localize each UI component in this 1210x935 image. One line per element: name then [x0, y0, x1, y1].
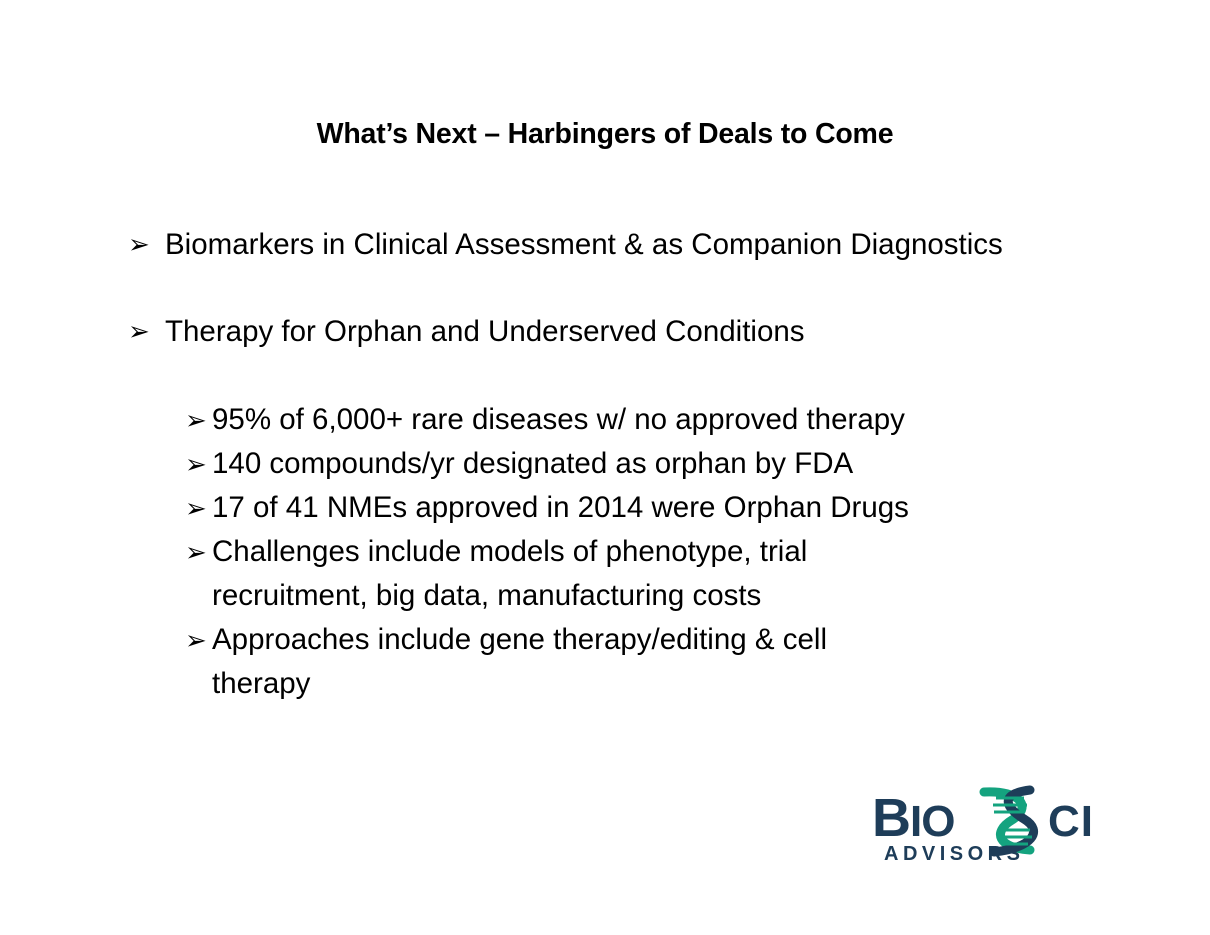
slide: What’s Next – Harbingers of Deals to Com… — [0, 0, 1210, 935]
bullet-level2-list: ➢ 95% of 6,000+ rare diseases w/ no appr… — [0, 398, 1210, 706]
spacer — [0, 267, 1210, 309]
bullet-level2-label: Approaches include gene therapy/editing … — [185, 618, 1170, 662]
bullet-arrow-icon: ➢ — [185, 618, 207, 662]
svg-text:BIO: BIO — [872, 788, 954, 848]
bullet-arrow-icon: ➢ — [185, 442, 207, 486]
bullet-arrow-icon: ➢ — [185, 398, 207, 442]
bullet-level2: ➢ 17 of 41 NMEs approved in 2014 were Or… — [0, 486, 1210, 530]
bullet-arrow-icon: ➢ — [128, 222, 150, 267]
slide-body: ➢ Biomarkers in Clinical Assessment & as… — [0, 222, 1210, 706]
bullet-level1-label: Biomarkers in Clinical Assessment & as C… — [128, 222, 1170, 267]
svg-text:CI: CI — [1048, 797, 1094, 846]
bullet-level2-label: Challenges include models of phenotype, … — [185, 530, 1170, 574]
bullet-level2-label: 17 of 41 NMEs approved in 2014 were Orph… — [185, 486, 1170, 530]
bullet-arrow-icon: ➢ — [185, 530, 207, 574]
bullet-level2: ➢ Approaches include gene therapy/editin… — [0, 618, 1210, 706]
bullet-level2-label-continued: therapy — [185, 662, 1170, 706]
page-title: What’s Next – Harbingers of Deals to Com… — [0, 118, 1210, 151]
bullet-level1-label: Therapy for Orphan and Underserved Condi… — [128, 309, 1170, 354]
bullet-level1: ➢ Therapy for Orphan and Underserved Con… — [0, 309, 1210, 354]
bullet-level2-label: 95% of 6,000+ rare diseases w/ no approv… — [185, 398, 1170, 442]
bullet-level2: ➢ Challenges include models of phenotype… — [0, 530, 1210, 618]
bullet-level2-label: 140 compounds/yr designated as orphan by… — [185, 442, 1170, 486]
svg-text:ADVISORS: ADVISORS — [884, 843, 1024, 864]
bullet-arrow-icon: ➢ — [185, 486, 207, 530]
bullet-level1: ➢ Biomarkers in Clinical Assessment & as… — [0, 222, 1210, 267]
biosci-advisors-logo: BIO CI — [872, 782, 1134, 864]
bullet-level2: ➢ 140 compounds/yr designated as orphan … — [0, 442, 1210, 486]
bullet-level2-label-continued: recruitment, big data, manufacturing cos… — [185, 574, 1170, 618]
bullet-arrow-icon: ➢ — [128, 309, 150, 354]
bullet-level2: ➢ 95% of 6,000+ rare diseases w/ no appr… — [0, 398, 1210, 442]
